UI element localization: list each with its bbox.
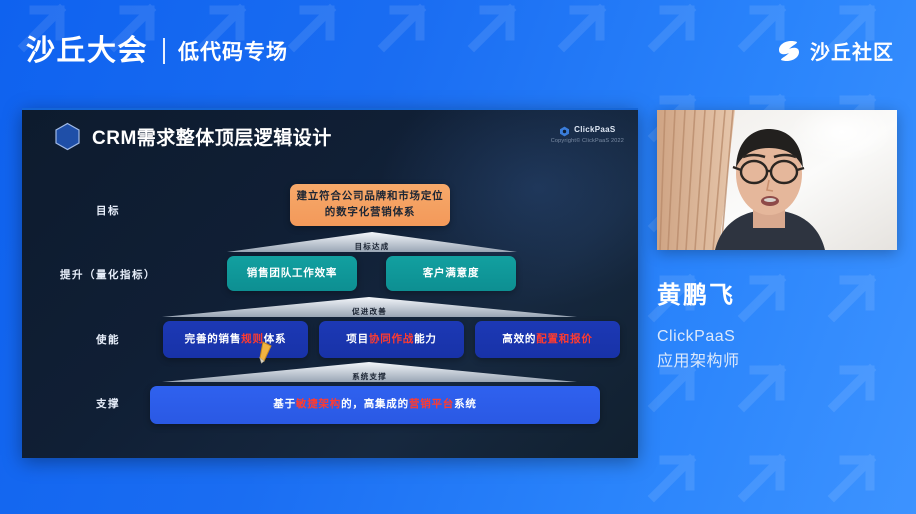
sandhill-s-mark-icon xyxy=(776,38,802,64)
enabler-box-2-post: 能力 xyxy=(414,332,437,348)
speaker-name: 黄鹏飞 xyxy=(657,282,907,311)
enabler-box-1-pre: 完善的销售 xyxy=(185,332,242,348)
brand-title: 沙丘大会 xyxy=(26,37,148,66)
speaker-company: ClickPaaS xyxy=(657,325,907,350)
page-header: 沙丘大会 低代码专场 沙丘社区 xyxy=(0,0,916,102)
brand-lockup: 沙丘大会 低代码专场 xyxy=(26,36,288,66)
enabler-box-3-pre: 高效的 xyxy=(502,332,536,348)
speaker-webcam-feed[interactable] xyxy=(657,110,897,250)
foundation-highlight-1: 敏捷架构 xyxy=(296,397,341,413)
brand-subtitle: 低代码专场 xyxy=(178,36,288,66)
enabler-box-1[interactable]: 完善的销售规则体系 xyxy=(163,321,308,358)
slide-title: CRM需求整体顶层逻辑设计 xyxy=(92,123,332,150)
community-logo-text: 沙丘社区 xyxy=(810,36,894,65)
foundation-box[interactable]: 基于敏捷架构的，高集成的营销平台系统 xyxy=(150,386,600,424)
goal-box[interactable]: 建立符合公司品牌和市场定位 的数字化营销体系 xyxy=(290,184,450,226)
vendor-name: ClickPaaS xyxy=(574,125,615,134)
hexagon-icon xyxy=(54,122,81,151)
connector-label-goal-achievement: 目标达成 xyxy=(227,241,517,252)
presentation-slide[interactable]: CRM需求整体顶层逻辑设计 ClickPaaS Copyright© Click… xyxy=(22,108,638,458)
foundation-pre: 基于 xyxy=(273,397,296,413)
enabler-box-2[interactable]: 项目协同作战能力 xyxy=(319,321,464,358)
row-label-enablers: 使能 xyxy=(48,332,168,347)
row-label-goal: 目标 xyxy=(48,203,168,218)
speaker-info: 黄鹏飞 ClickPaaS 应用架构师 xyxy=(657,282,907,374)
connector-arrow-system-support: 系统支撑 xyxy=(162,361,577,383)
foundation-post: 系统 xyxy=(454,397,477,413)
enabler-box-2-pre: 项目 xyxy=(346,332,369,348)
community-logo: 沙丘社区 xyxy=(776,36,894,65)
vendor-logo: ClickPaaS Copyright© ClickPaaS 2022 xyxy=(551,124,624,144)
foundation-mid: 的，高集成的 xyxy=(341,397,409,413)
speaker-role: 应用架构师 xyxy=(657,350,907,375)
slide-top-accent-line xyxy=(22,108,638,110)
row-label-metrics: 提升（量化指标） xyxy=(48,267,168,282)
connector-arrow-goal-achievement: 目标达成 xyxy=(227,231,517,253)
connector-arrow-improvement: 促进改善 xyxy=(162,296,577,318)
slide-header: CRM需求整体顶层逻辑设计 xyxy=(54,122,332,151)
connector-label-system-support: 系统支撑 xyxy=(162,371,577,382)
clickpaas-hexagon-icon xyxy=(559,124,570,135)
metric-box-1[interactable]: 销售团队工作效率 xyxy=(227,256,357,291)
brand-separator xyxy=(163,38,165,64)
enabler-box-3-highlight: 配置和报价 xyxy=(536,332,593,348)
connector-label-improvement: 促进改善 xyxy=(162,306,577,317)
enabler-box-3[interactable]: 高效的配置和报价 xyxy=(475,321,620,358)
metric-box-2[interactable]: 客户满意度 xyxy=(386,256,516,291)
vendor-copyright: Copyright© ClickPaaS 2022 xyxy=(551,138,624,144)
goal-box-line1: 建立符合公司品牌和市场定位 xyxy=(297,189,444,205)
goal-box-line2: 的数字化营销体系 xyxy=(325,205,415,221)
foundation-highlight-2: 营销平台 xyxy=(409,397,454,413)
enabler-box-2-highlight: 协同作战 xyxy=(369,332,414,348)
